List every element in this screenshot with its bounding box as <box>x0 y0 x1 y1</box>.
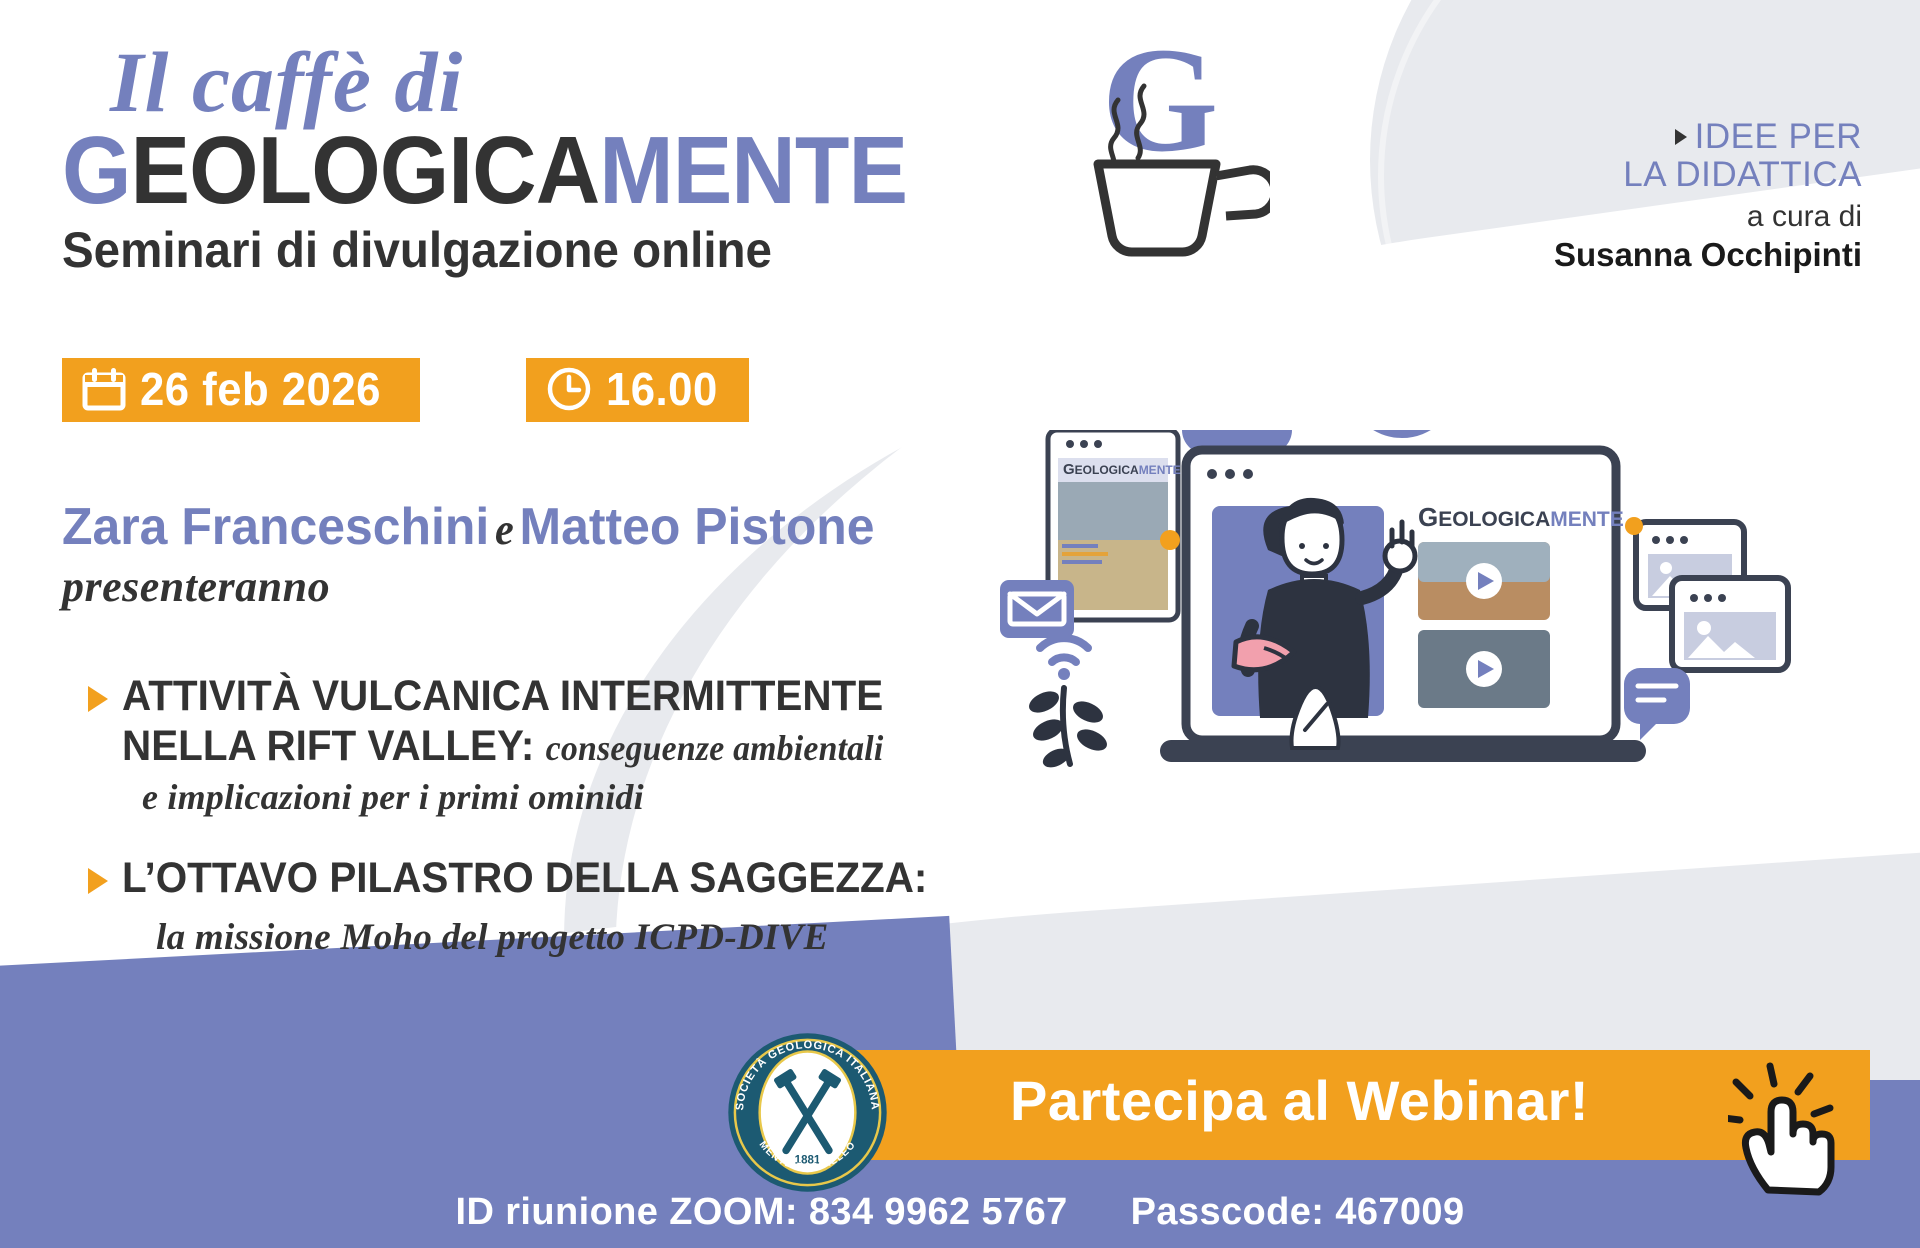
date-text: 26 feb 2026 <box>140 365 381 413</box>
event-badges: 26 feb 2026 16.00 <box>62 358 749 422</box>
curator-byline: a cura di <box>1442 200 1862 234</box>
comment-bubble-icon <box>1624 668 1690 740</box>
talk-subtitle-second: e implicazioni per i primi ominidi <box>142 776 1048 818</box>
speakers-verb: presenteranno <box>62 561 942 612</box>
triangle-bullet-icon <box>88 686 108 712</box>
clock-icon <box>546 366 592 412</box>
calendar-icon <box>82 366 126 412</box>
webinar-illustration: GEOLOGICAMENTE <box>1000 430 1900 860</box>
list-item: ATTIVITÀ VULCANICA INTERMITTENTE NELLA R… <box>88 672 1048 818</box>
footer-meeting-info: ID riunione ZOOM: 834 9962 5767 Passcode… <box>0 1191 1920 1234</box>
passcode: Passcode: 467009 <box>1131 1191 1465 1233</box>
dot-accent <box>1625 517 1643 535</box>
title-main-tail: MENTE <box>599 117 907 224</box>
talk-body: ATTIVITÀ VULCANICA INTERMITTENTE NELLA R… <box>122 672 1048 818</box>
curator-line2: LA DIDATTICA <box>1442 156 1862 194</box>
media-window-bottom <box>1672 578 1788 670</box>
talk-body: L’OTTAVO PILASTRO DELLA SAGGEZZA: la mis… <box>122 854 1048 959</box>
title-main-dark: EOLOGICA <box>131 117 600 224</box>
curator-name: Susanna Occhipinti <box>1442 236 1862 274</box>
poster-root: Il caffè di GEOLOGICAMENTE Seminari di d… <box>0 0 1920 1248</box>
triangle-bullet-icon <box>88 868 108 894</box>
talk-list: ATTIVITÀ VULCANICA INTERMITTENTE NELLA R… <box>88 672 1048 995</box>
title-main-lead: G <box>62 117 131 224</box>
laptop-screen: GEOLOGICAMENTE <box>1160 450 1646 762</box>
coffee-cup-illustration: G <box>1040 42 1270 262</box>
list-item: L’OTTAVO PILASTRO DELLA SAGGEZZA: la mis… <box>88 854 1048 959</box>
talk-title-row: ATTIVITÀ VULCANICA INTERMITTENTE NELLA R… <box>122 672 992 772</box>
speaker-one: Zara Franceschini <box>62 498 489 556</box>
talk-title: L’OTTAVO PILASTRO DELLA SAGGEZZA: <box>122 854 992 904</box>
curator-line1: IDEE PER <box>1695 117 1862 156</box>
title-main: GEOLOGICAMENTE <box>62 126 843 216</box>
envelope-icon <box>1000 580 1074 638</box>
talk-subtitle-second: la missione Moho del progetto ICPD-DIVE <box>156 916 1048 959</box>
speakers-block: Zara FranceschinieMatteo Pistone present… <box>62 500 942 612</box>
speaker-names: Zara FranceschinieMatteo Pistone <box>62 500 907 555</box>
speakers-conjunction: e <box>489 505 519 554</box>
triangle-bullet-icon <box>1675 129 1687 145</box>
meeting-id: ID riunione ZOOM: 834 9962 5767 <box>455 1191 1067 1233</box>
curator-line1-row: IDEE PER <box>1442 118 1862 156</box>
click-hand-icon[interactable] <box>1728 1062 1858 1202</box>
wall-clock-icon <box>1350 430 1454 434</box>
svg-text:GEOLOGICAMENTE: GEOLOGICAMENTE <box>1063 461 1181 478</box>
title-subtitle: Seminari di divulgazione online <box>62 225 860 275</box>
title-script: Il caffè di <box>110 40 902 124</box>
date-badge: 26 feb 2026 <box>62 358 420 422</box>
curator-block: IDEE PER LA DIDATTICA a cura di Susanna … <box>1442 118 1862 274</box>
societa-geologica-italiana-logo: 1881 SOCIETÀ GEOLOGICA ITALIANA MENTE ET… <box>725 1030 890 1195</box>
wifi-plant-icon <box>1026 638 1111 771</box>
speaker-two: Matteo Pistone <box>520 498 875 556</box>
page-title: Il caffè di GEOLOGICAMENTE Seminari di d… <box>62 40 902 275</box>
webinar-cta-label[interactable]: Partecipa al Webinar! <box>1010 1068 1589 1133</box>
time-badge: 16.00 <box>526 358 750 422</box>
time-text: 16.00 <box>606 365 718 413</box>
talk-subtitle-inline: conseguenze ambientali <box>546 728 884 768</box>
